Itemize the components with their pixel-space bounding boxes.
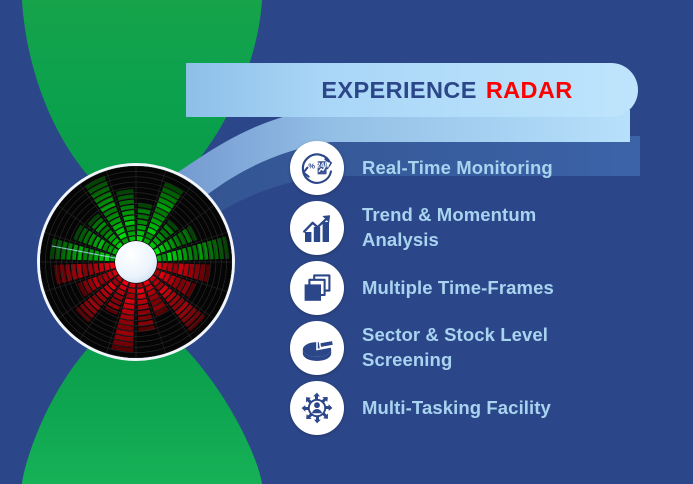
feature-label: Trend & Momentum Analysis bbox=[362, 203, 536, 253]
banner-title: EXPERIENCE RADAR bbox=[186, 63, 638, 117]
feature-label: Real-Time Monitoring bbox=[362, 156, 553, 181]
feature-label-line1: Sector & Stock Level bbox=[362, 324, 548, 345]
banner-title-main: EXPERIENCE bbox=[321, 77, 477, 104]
banner-title-accent: RADAR bbox=[486, 77, 573, 104]
radar-polar-chart bbox=[36, 162, 236, 362]
radar-hub bbox=[115, 241, 157, 283]
feature-label-line2: Analysis bbox=[362, 228, 536, 253]
feature-label: Multi-Tasking Facility bbox=[362, 396, 551, 421]
feature-item-sector-stock-screening[interactable]: Sector & Stock Level Screening bbox=[290, 318, 680, 378]
feature-item-multiple-time-frames[interactable]: Multiple Time-Frames bbox=[290, 258, 680, 318]
realtime-24-7-icon: % 24/7 bbox=[290, 141, 344, 195]
feature-label: Multiple Time-Frames bbox=[362, 276, 554, 301]
feature-label-line2: Screening bbox=[362, 348, 548, 373]
pie-chart-3d-icon bbox=[290, 321, 344, 375]
banner: EXPERIENCE RADAR bbox=[186, 63, 638, 117]
bar-chart-trend-icon bbox=[290, 201, 344, 255]
promo-graphic: EXPERIENCE RADAR bbox=[0, 0, 693, 484]
feature-list: % 24/7 Real-Time Monitoring bbox=[290, 138, 680, 438]
feature-label-line1: Multiple Time-Frames bbox=[362, 277, 554, 298]
multi-tasking-person-icon bbox=[290, 381, 344, 435]
svg-text:%: % bbox=[308, 162, 315, 171]
feature-label-line1: Multi-Tasking Facility bbox=[362, 397, 551, 418]
feature-item-trend-momentum-analysis[interactable]: Trend & Momentum Analysis bbox=[290, 198, 680, 258]
feature-item-real-time-monitoring[interactable]: % 24/7 Real-Time Monitoring bbox=[290, 138, 680, 198]
feature-label-line1: Trend & Momentum bbox=[362, 204, 536, 225]
feature-item-multi-tasking-facility[interactable]: Multi-Tasking Facility bbox=[290, 378, 680, 438]
feature-label-line1: Real-Time Monitoring bbox=[362, 157, 553, 178]
stacked-layers-icon bbox=[290, 261, 344, 315]
svg-text:24/7: 24/7 bbox=[316, 160, 330, 169]
feature-label: Sector & Stock Level Screening bbox=[362, 323, 548, 373]
